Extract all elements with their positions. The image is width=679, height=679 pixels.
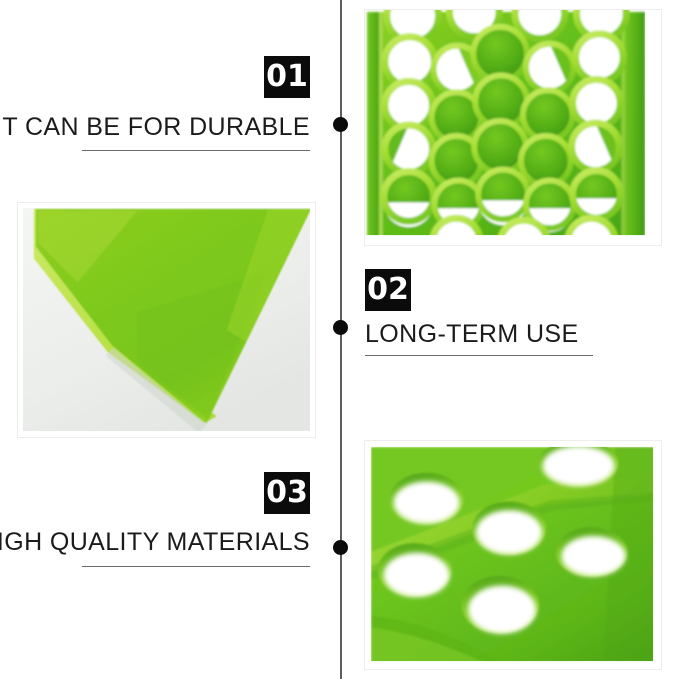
tube-rack-grid-graphic: [365, 10, 661, 245]
feature-block-02: 02 LONG-TERM USE: [340, 250, 679, 390]
feature-block-01: 01 IT CAN BE FOR DURABLE: [0, 0, 340, 200]
feature-rule-02: [365, 355, 593, 356]
infographic-page: 01 IT CAN BE FOR DURABLE 02 LONG-TERM US…: [0, 0, 679, 679]
tray-holes-graphic: [365, 441, 661, 669]
feature-number-badge-03: 03: [264, 472, 310, 514]
tube-rack-grid-photo: [364, 9, 662, 246]
plate-corner-photo: [17, 202, 316, 438]
feature-title-03: HIGH QUALITY MATERIALS: [0, 528, 310, 557]
feature-title-01: IT CAN BE FOR DURABLE: [0, 113, 310, 142]
feature-title-02: LONG-TERM USE: [365, 320, 579, 349]
feature-rule-03: [82, 566, 310, 567]
feature-rule-01: [82, 150, 310, 151]
tray-holes-photo: [364, 440, 662, 670]
feature-block-03: 03 HIGH QUALITY MATERIALS: [0, 450, 340, 590]
feature-number-badge-01: 01: [264, 56, 310, 98]
feature-number-badge-02: 02: [365, 269, 411, 311]
plate-corner-graphic: [18, 203, 315, 437]
